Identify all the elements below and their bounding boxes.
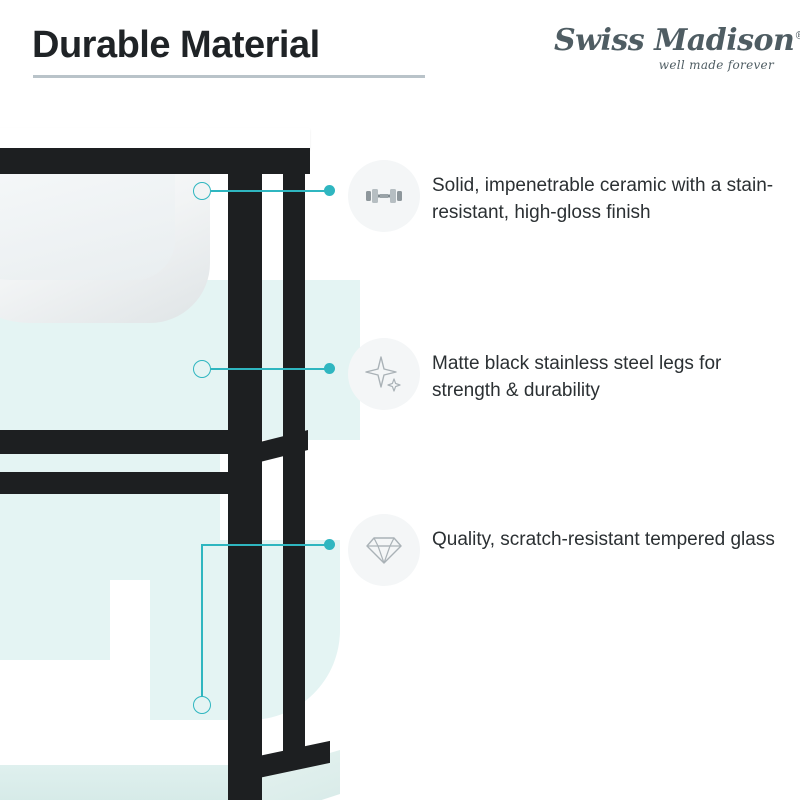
callout-dot-1 <box>324 185 335 196</box>
frame-rail-mid-lower <box>0 472 235 494</box>
title-underline <box>33 75 425 78</box>
brand-logo: Swiss Madison® well made forever <box>554 26 774 80</box>
brand-name: Swiss Madison® <box>554 26 774 56</box>
brand-name-text: Swiss Madison <box>554 23 794 58</box>
callout-connector-1 <box>211 190 330 192</box>
page-title: Durable Material <box>32 24 320 67</box>
watermark-shape-4 <box>0 540 110 660</box>
feature-icon-3 <box>348 514 420 586</box>
callout-anchor-ring-1 <box>193 182 211 200</box>
registered-mark: ® <box>794 29 800 42</box>
callout-connector-2 <box>211 368 330 370</box>
sparkle-icon <box>363 353 405 395</box>
callout-connector-3-vertical <box>201 545 203 697</box>
feature-text-3: Quality, scratch-resistant tempered glas… <box>432 526 782 553</box>
product-image <box>0 120 360 800</box>
dumbbell-icon <box>362 185 406 207</box>
feature-text-2: Matte black stainless steel legs for str… <box>432 350 782 404</box>
page-root: Durable Material Swiss Madison® well mad… <box>0 0 800 800</box>
callout-anchor-ring-3 <box>193 696 211 714</box>
feature-icon-2 <box>348 338 420 410</box>
glass-shelf <box>0 765 260 800</box>
frame-rail-top <box>0 148 310 174</box>
callout-dot-2 <box>324 363 335 374</box>
frame-post-front <box>228 148 262 800</box>
callout-connector-3-horizontal <box>201 544 330 546</box>
frame-rail-mid <box>0 430 260 454</box>
frame-post-rear <box>283 148 305 768</box>
feature-icon-1 <box>348 160 420 232</box>
feature-text-1: Solid, impenetrable ceramic with a stain… <box>432 172 782 226</box>
callout-dot-3 <box>324 539 335 550</box>
diamond-icon <box>364 532 404 568</box>
brand-tagline: well made forever <box>554 58 774 72</box>
callout-anchor-ring-2 <box>193 360 211 378</box>
sink-countertop <box>0 128 310 150</box>
